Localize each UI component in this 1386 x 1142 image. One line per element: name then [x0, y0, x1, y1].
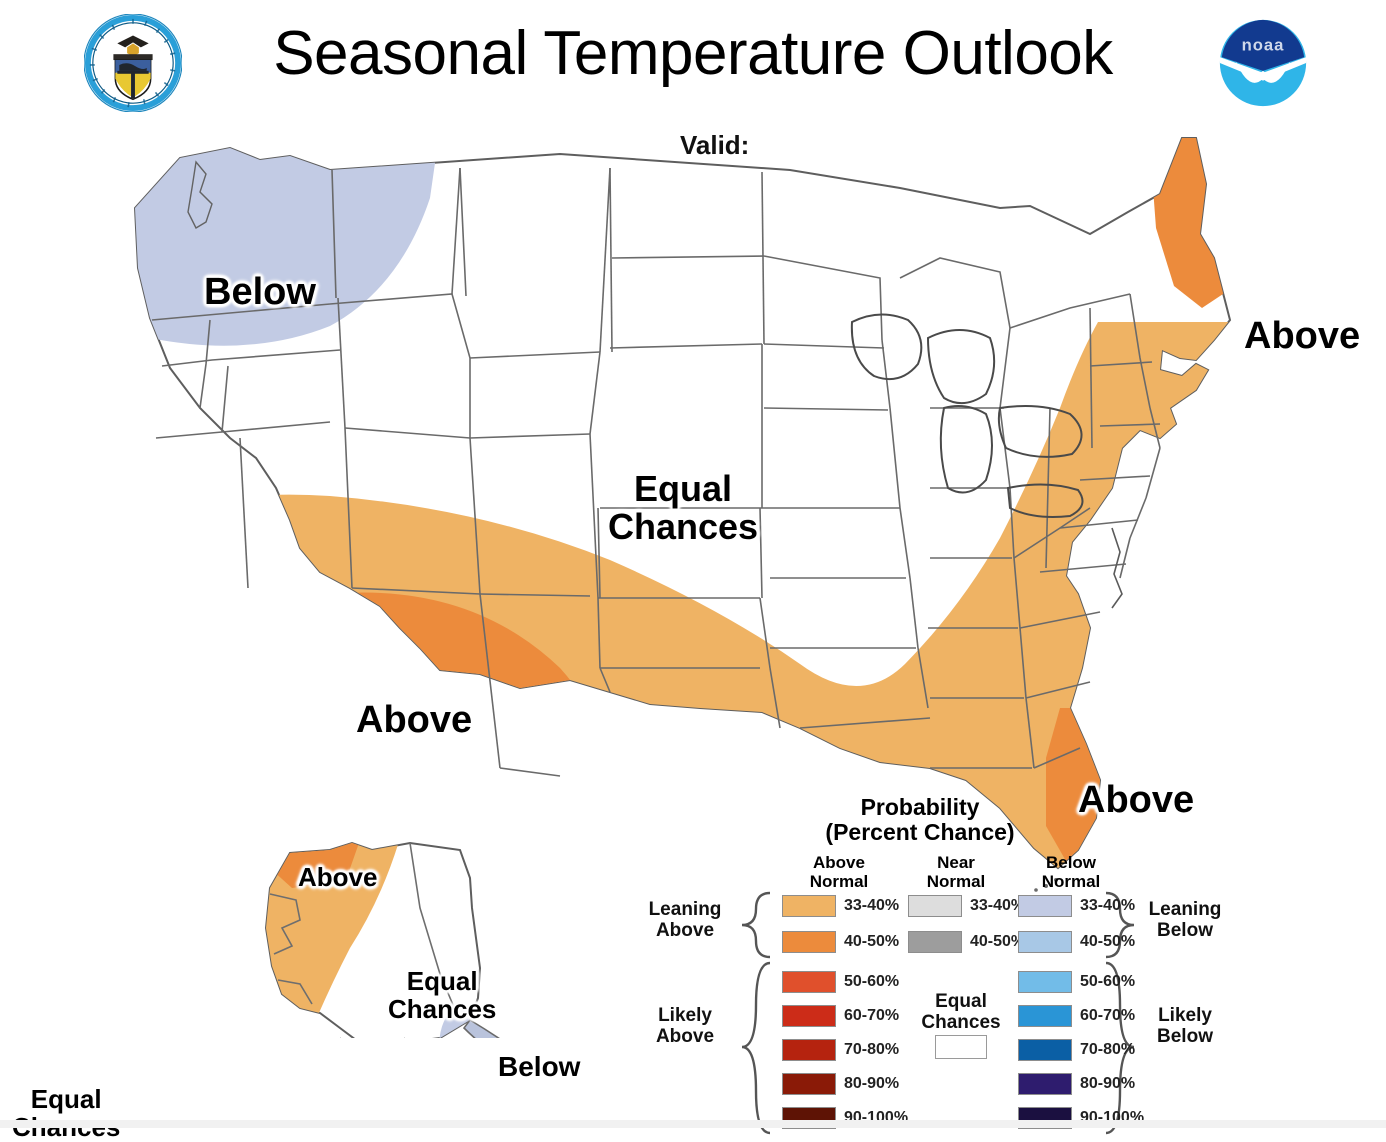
- legend-range-above-33-40: 33-40%: [844, 895, 899, 917]
- legend-range-below-40-50: 40-50%: [1080, 931, 1135, 953]
- bottom-divider: [0, 1120, 1386, 1128]
- legend-swatch-below-60-70: [1018, 1005, 1072, 1027]
- map-label-equal-hawaii: Equal Chances: [12, 1086, 120, 1141]
- probability-legend: Probability (Percent Chance) Above Norma…: [640, 795, 1210, 1115]
- legend-group-leaning-below: Leaning Below: [1132, 899, 1238, 941]
- legend-range-below-60-70: 60-70%: [1080, 1005, 1135, 1027]
- legend-group-likely-below: Likely Below: [1132, 1005, 1238, 1047]
- legend-swatch-near-40-50: [908, 931, 962, 953]
- legend-range-below-33-40: 33-40%: [1080, 895, 1135, 917]
- legend-swatch-equal-chances: [935, 1035, 987, 1059]
- legend-swatch-above-80-90: [782, 1073, 836, 1095]
- legend-column-heading-above-normal: Above Normal: [780, 853, 898, 891]
- legend-group-likely-above: Likely Above: [632, 1005, 738, 1047]
- legend-swatch-above-40-50: [782, 931, 836, 953]
- legend-swatch-above-33-40: [782, 895, 836, 917]
- brace-likely-above-icon: [740, 961, 774, 1137]
- map-label-below-alaska: Below: [498, 1052, 580, 1082]
- legend-range-above-80-90: 80-90%: [844, 1073, 899, 1095]
- page-title: Seasonal Temperature Outlook: [0, 18, 1386, 89]
- legend-swatch-above-60-70: [782, 1005, 836, 1027]
- outlook-graphic: noaa Seasonal Temperature Outlook Valid:…: [0, 0, 1386, 1128]
- legend-swatch-above-70-80: [782, 1039, 836, 1061]
- legend-column-heading-below-normal: Below Normal: [1012, 853, 1130, 891]
- legend-swatch-above-50-60: [782, 971, 836, 993]
- legend-swatch-below-50-60: [1018, 971, 1072, 993]
- legend-column-heading-near-normal: Near Normal: [902, 853, 1010, 891]
- legend-swatch-below-70-80: [1018, 1039, 1072, 1061]
- legend-range-above-40-50: 40-50%: [844, 931, 899, 953]
- legend-swatch-below-80-90: [1018, 1073, 1072, 1095]
- legend-range-above-60-70: 60-70%: [844, 1005, 899, 1027]
- legend-range-near-33-40: 33-40%: [970, 895, 1025, 917]
- legend-swatch-below-33-40: [1018, 895, 1072, 917]
- brace-leaning-above-icon: [740, 891, 774, 961]
- alaska-inset: [141, 838, 675, 1038]
- legend-range-below-50-60: 50-60%: [1080, 971, 1135, 993]
- legend-range-below-80-90: 80-90%: [1080, 1073, 1135, 1095]
- legend-range-above-70-80: 70-80%: [844, 1039, 899, 1061]
- legend-title: Probability (Percent Chance): [770, 795, 1070, 845]
- legend-range-below-70-80: 70-80%: [1080, 1039, 1135, 1061]
- legend-group-leaning-above: Leaning Above: [632, 899, 738, 941]
- legend-swatch-below-40-50: [1018, 931, 1072, 953]
- legend-range-near-40-50: 40-50%: [970, 931, 1025, 953]
- legend-range-above-50-60: 50-60%: [844, 971, 899, 993]
- legend-equal-chances-label: Equal Chances: [896, 991, 1026, 1033]
- legend-swatch-near-33-40: [908, 895, 962, 917]
